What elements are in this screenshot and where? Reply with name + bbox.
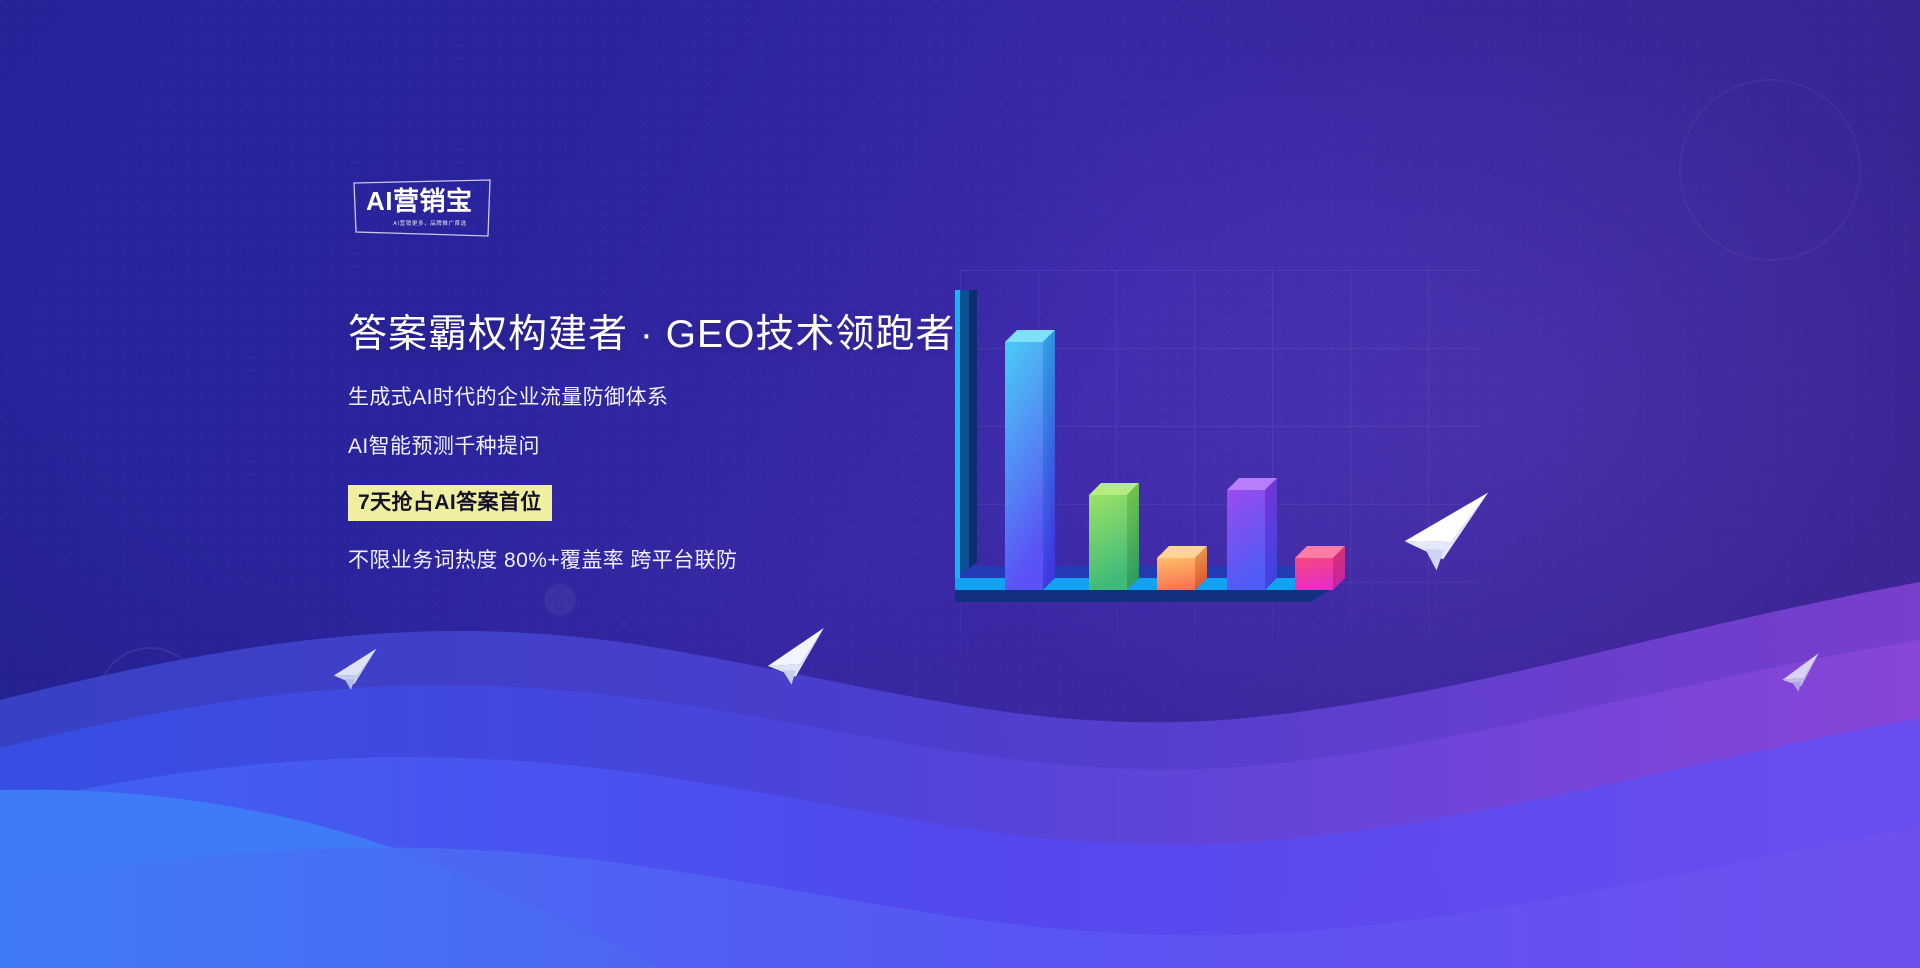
hero-banner: AI营销宝 AI营销更多，品牌推广首选 答案霸权构建者 · GEO技术领跑者 生… xyxy=(0,0,1920,968)
decor-circle-small xyxy=(544,584,576,616)
wave-layer-3 xyxy=(0,718,1920,968)
hero-subtitle-1: 生成式AI时代的企业流量防御体系 xyxy=(348,384,955,411)
bar-4 xyxy=(1227,478,1277,590)
wave-layer-4 xyxy=(0,828,1920,968)
hero-subtitle-3: 不限业务词热度 80%+覆盖率 跨平台联防 xyxy=(348,547,955,574)
hero-highlight-wrapper: 7天抢占AI答案首位 xyxy=(348,485,955,521)
paper-plane-icon xyxy=(330,649,386,694)
paper-plane-icon xyxy=(762,628,838,690)
magenta-glow xyxy=(1230,845,1690,968)
page-title: 答案霸权构建者 · GEO技术领跑者 xyxy=(348,312,955,358)
decor-circle-right xyxy=(1680,80,1860,260)
wave-wedge-left xyxy=(0,790,660,968)
hero-highlight-badge: 7天抢占AI答案首位 xyxy=(348,485,552,521)
bar-1 xyxy=(1005,330,1055,590)
brand-logo[interactable]: AI营销宝 AI营销更多，品牌推广首选 xyxy=(352,178,492,240)
decor-circle-left xyxy=(98,648,202,752)
logo-tagline: AI营销更多，品牌推广首选 xyxy=(380,219,480,227)
bar-5 xyxy=(1295,546,1345,590)
logo-wordmark: AI营销宝 xyxy=(366,188,482,214)
hero-copy-block: 答案霸权构建者 · GEO技术领跑者 生成式AI时代的企业流量防御体系 AI智能… xyxy=(348,312,955,574)
paper-plane-icon xyxy=(1778,653,1829,695)
chart-axis xyxy=(955,290,977,578)
hero-subtitle-2: AI智能预测千种提问 xyxy=(348,433,955,460)
bar-3 xyxy=(1157,546,1207,590)
bar-2 xyxy=(1089,483,1139,590)
bar-chart-illustration xyxy=(955,290,1435,665)
wave-layer-2 xyxy=(0,640,1920,968)
